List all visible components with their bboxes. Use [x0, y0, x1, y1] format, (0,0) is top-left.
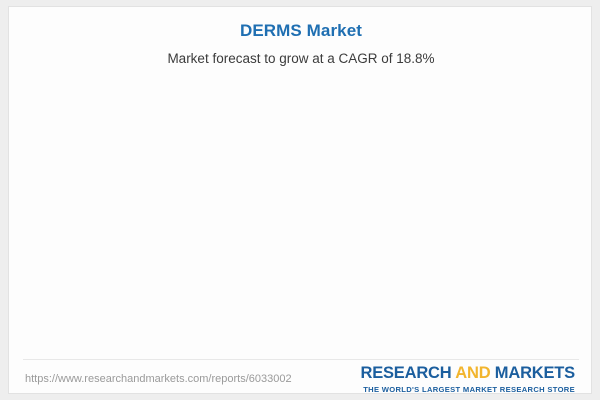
- logo-wordmark: RESEARCH AND MARKETS: [360, 364, 575, 383]
- plot-area: USD 0.61 Billion 2024 USD 1.44 Billion: [9, 7, 592, 347]
- report-url-link[interactable]: https://www.researchandmarkets.com/repor…: [25, 373, 292, 385]
- logo-word-and: AND: [455, 364, 490, 382]
- chart-card: DERMS Market Market forecast to grow at …: [8, 6, 592, 394]
- logo-tagline: THE WORLD'S LARGEST MARKET RESEARCH STOR…: [360, 385, 575, 394]
- footer-divider: [23, 359, 579, 360]
- logo-word-markets: MARKETS: [490, 364, 575, 382]
- research-and-markets-logo[interactable]: RESEARCH AND MARKETS THE WORLD'S LARGEST…: [360, 364, 575, 394]
- logo-word-research: RESEARCH: [360, 364, 455, 382]
